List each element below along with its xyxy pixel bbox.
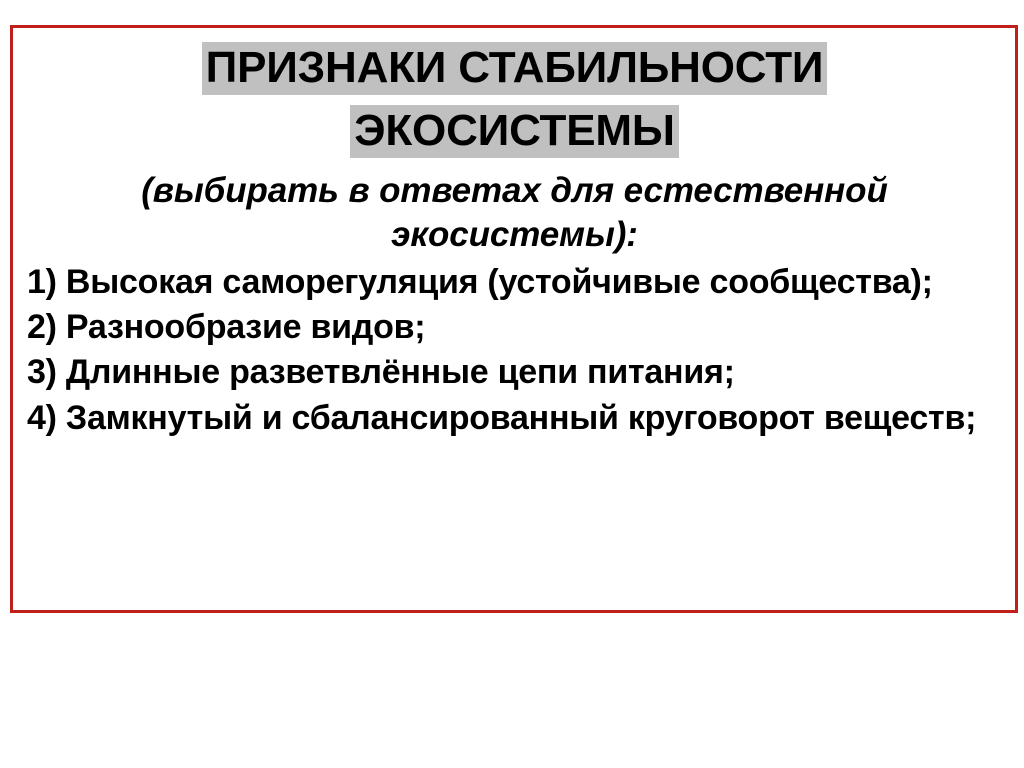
list-item: 2) Разнообразие видов; <box>27 305 1009 350</box>
slide-frame: ПРИЗНАКИ СТАБИЛЬНОСТИЭКОСИСТЕМЫ (выбират… <box>10 25 1018 613</box>
title-line-1: ПРИЗНАКИ СТАБИЛЬНОСТИ <box>202 42 828 95</box>
list-item: 3) Длинные разветвлённые цепи питания; <box>27 350 1009 395</box>
slide-content: ПРИЗНАКИ СТАБИЛЬНОСТИЭКОСИСТЕМЫ (выбират… <box>13 28 1015 610</box>
list-item: 4) Замкнутый и сбалансированный круговор… <box>27 396 1009 441</box>
slide-subtitle: (выбирать в ответах для естественной эко… <box>18 169 1011 257</box>
title-line-2: ЭКОСИСТЕМЫ <box>350 105 678 158</box>
stability-criteria-list: 1) Высокая саморегуляция (устойчивые соо… <box>18 260 1011 441</box>
page-title: ПРИЗНАКИ СТАБИЛЬНОСТИЭКОСИСТЕМЫ <box>18 37 1011 163</box>
list-item: 1) Высокая саморегуляция (устойчивые соо… <box>27 260 1009 305</box>
slide-canvas: { "colors": { "border": "#c0201c", "titl… <box>0 0 1024 768</box>
